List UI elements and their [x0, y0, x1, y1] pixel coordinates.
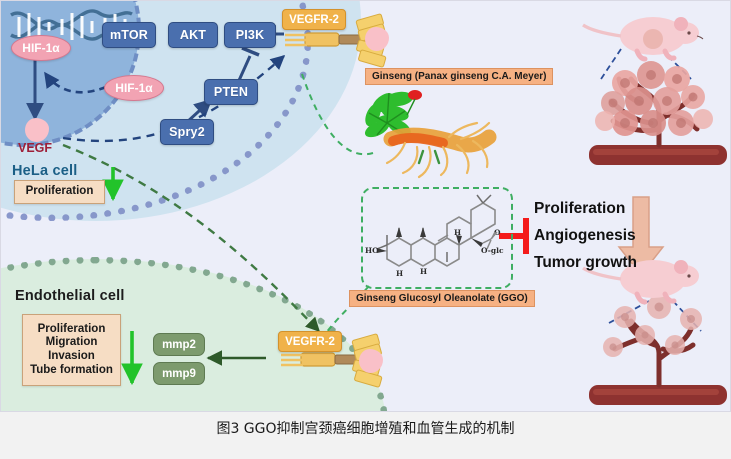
vegfr2-label-top: VEGFR-2	[282, 9, 346, 30]
effect-proliferation: Proliferation	[38, 323, 106, 337]
svg-text:H: H	[420, 267, 427, 276]
mmp2-box[interactable]: mmp2	[153, 333, 205, 356]
vegfr2-label-bottom: VEGFR-2	[278, 331, 342, 352]
hif1a-nucleus[interactable]: HIF-1α	[11, 35, 71, 61]
outcome-angiogenesis: Angiogenesis	[534, 227, 636, 245]
mouse-with-large-tumor-illustration	[581, 3, 731, 173]
mouse-icon	[583, 17, 703, 59]
node-pten[interactable]: PTEN	[204, 79, 258, 105]
outcome-proliferation: Proliferation	[534, 200, 625, 218]
hela-proliferation-box: Proliferation	[14, 180, 105, 204]
ginseng-plant-illustration	[357, 85, 497, 181]
hif1a-cytosol[interactable]: HIF-1α	[104, 75, 164, 101]
endothelial-cell-title: Endothelial cell	[15, 288, 125, 304]
ggo-molecule-label: Ginseng Glucosyl Oleanolate (GGO)	[349, 290, 535, 307]
effect-invasion: Invasion	[48, 350, 95, 364]
figure-root: VEGFR-2 VEGFR-2 mTOR AKT PI3K PTEN Spry2…	[0, 0, 731, 459]
vegf-label: VEGF	[18, 141, 52, 155]
figure-caption: 图3 GGO抑制宫颈癌细胞增殖和血管生成的机制	[0, 418, 731, 438]
node-mtor[interactable]: mTOR	[102, 22, 156, 48]
hela-cell-title: HeLa cell	[12, 163, 77, 179]
svg-text:H: H	[454, 228, 461, 237]
node-spry2[interactable]: Spry2	[160, 119, 214, 145]
outcome-tumor-growth: Tumor growth	[534, 254, 637, 272]
svg-text:O-glc: O-glc	[481, 246, 504, 255]
mechanism-diagram: VEGFR-2 VEGFR-2 mTOR AKT PI3K PTEN Spry2…	[0, 0, 731, 412]
mouse-with-reduced-tumor-illustration	[581, 249, 731, 411]
effect-migration: Migration	[46, 336, 98, 350]
ginseng-plant-label: Ginseng (Panax ginseng C.A. Meyer)	[365, 68, 553, 85]
svg-text:H: H	[396, 269, 403, 278]
node-akt[interactable]: AKT	[168, 22, 218, 48]
endothelial-effects-box: Proliferation Migration Invasion Tube fo…	[22, 314, 121, 386]
ggo-chemical-structure: HO H H H O O-glc	[365, 191, 507, 283]
effect-tube-formation: Tube formation	[30, 364, 113, 378]
svg-text:HO: HO	[365, 246, 379, 255]
node-pi3k[interactable]: PI3K	[224, 22, 276, 48]
mmp9-box[interactable]: mmp9	[153, 362, 205, 385]
